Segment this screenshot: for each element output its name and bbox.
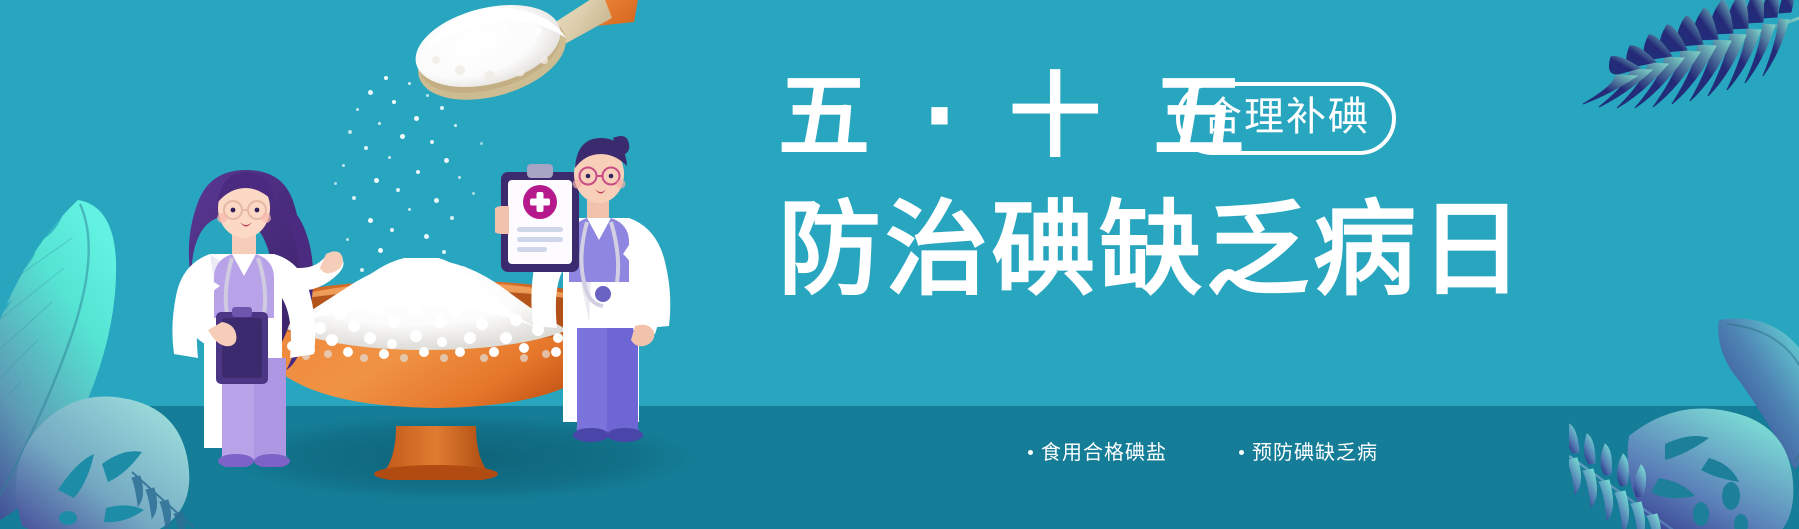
bullet-dot-icon	[1239, 450, 1244, 455]
wooden-spoon-icon	[340, 0, 640, 108]
tagline-label: 预防碘缺乏病	[1252, 440, 1378, 464]
headline-block: 五 · 十 五 合理补碘 防治碘缺乏病日	[770, 64, 1430, 334]
page-title: 防治碘缺乏病日	[778, 194, 1527, 306]
tagline-label: 食用合格碘盐	[1041, 440, 1167, 464]
bullet-dot-icon	[1028, 450, 1033, 455]
iodine-deficiency-day-banner: 五 · 十 五 合理补碘 防治碘缺乏病日 食用合格碘盐 预防碘缺乏病	[0, 0, 1799, 529]
badge-label: 合理补碘	[1202, 94, 1370, 140]
female-doctor	[140, 162, 345, 467]
male-doctor	[495, 132, 685, 444]
tagline-item-0: 食用合格碘盐	[1028, 440, 1167, 464]
tagline-row: 食用合格碘盐 预防碘缺乏病	[1028, 440, 1378, 464]
tagline-item-1: 预防碘缺乏病	[1239, 440, 1378, 464]
badge-reasonable-iodine: 合理补碘	[1176, 82, 1396, 155]
